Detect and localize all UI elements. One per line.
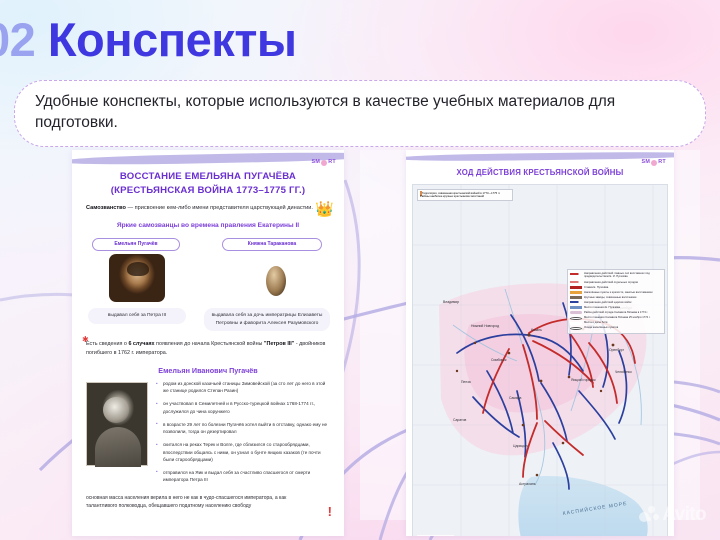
page-title: 02 Конспекты xyxy=(0,16,296,63)
smart-logo-dot xyxy=(651,160,657,166)
avito-wordmark: Avito xyxy=(662,505,706,524)
note-mid: появления до начала Крестьянской войны xyxy=(155,341,264,347)
legend-label: Направления действий главных сил восстав… xyxy=(584,272,662,279)
legend-row: Направления действий царских войск xyxy=(570,301,662,304)
legend-swatch-salavat-area xyxy=(570,311,582,314)
legend-swatch-capture-pugachev xyxy=(570,306,582,309)
svg-text:Казань: Казань xyxy=(531,328,542,332)
notes-card-pugachev[interactable]: SM RT ВОССТАНИЕ ЕМЕЛЬЯНА ПУГАЧЁВА (КРЕСТ… xyxy=(72,150,344,536)
section-heading: Яркие самозванцы во времена правления Ек… xyxy=(82,222,334,229)
left-card-title-line2: (КРЕСТЬЯНСКАЯ ВОЙНА 1773–1775 ГГ.) xyxy=(84,184,332,198)
avito-logo-icon xyxy=(639,506,659,524)
legend-arrow-red-detached xyxy=(570,281,582,283)
legend-row: Место пленения Е. Пугачёва xyxy=(570,306,662,310)
smart-logo-right: RT xyxy=(328,160,336,165)
legend-label: Районы наиболее крупных крестьянских вос… xyxy=(420,195,484,198)
avito-watermark: Avito xyxy=(639,505,706,524)
map-svg: КАСПИЙСКОЕ МОРЕ xyxy=(413,185,668,536)
map-legend-side: Направления действий главных сил восстав… xyxy=(567,269,665,334)
list-item: в возрасте 29 лет по болезни Пугачёв хот… xyxy=(156,421,332,436)
biography-bullet-list: родом из донской казачьей станицы Зимове… xyxy=(156,380,332,489)
portrait-pugachev xyxy=(109,254,165,302)
exclamation-icon: ! xyxy=(328,505,332,518)
smart-logo-dot xyxy=(321,160,327,166)
legend-label: Населённые пункты и крепости, занятые во… xyxy=(584,291,653,294)
legend-swatch-factories xyxy=(570,296,582,299)
legend-label: Места и даты битв xyxy=(584,321,607,324)
legend-label: Направления действий царских войск xyxy=(584,301,631,304)
legend-row: Места и даты битв xyxy=(570,321,662,325)
person-full-name-heading: Емельян Иванович Пугачёв xyxy=(82,366,334,375)
legend-swatch-settlements xyxy=(570,291,582,294)
legend-row: Населённые пункты и крепости, занятые во… xyxy=(570,291,662,295)
svg-text:Яицкий городок: Яицкий городок xyxy=(571,378,596,382)
definition-block: Самозванство — присвоение кем-либо имени… xyxy=(86,204,330,213)
map-scale-label: Масштаб 1:9 000 000 xyxy=(417,535,454,536)
legend-row: Район действий отряда Салавата Юлаева в … xyxy=(570,311,662,315)
note-bold-peters: "Петров III" xyxy=(264,341,294,347)
legend-row: Направления действий отдельных отрядов xyxy=(570,281,662,284)
svg-text:Челябинск: Челябинск xyxy=(615,370,632,374)
list-item: отправился на Яик и выдал себя за счастл… xyxy=(156,469,332,484)
smart-logo-icon: SM RT xyxy=(642,160,666,166)
subtitle-text: Удобные конспекты, которые используются … xyxy=(35,93,615,131)
legend-arrow-red-main xyxy=(570,273,582,275)
person-pill-tarakanova: Княжна Тараканова xyxy=(222,238,322,251)
page-title-number: 02 xyxy=(0,13,35,66)
list-item: он участвовал в Семилетней и в Русско-ту… xyxy=(156,400,332,415)
svg-text:Самара: Самара xyxy=(509,396,521,400)
legend-row: Крупные заводы, охваченные восстанием xyxy=(570,296,662,300)
svg-text:Нижний Новгород: Нижний Новгород xyxy=(471,324,499,328)
svg-text:Владимир: Владимир xyxy=(443,300,459,304)
legend-label: Крупные заводы, охваченные восстанием xyxy=(584,296,636,299)
left-card-title: ВОССТАНИЕ ЕМЕЛЬЯНА ПУГАЧЁВА (КРЕСТЬЯНСКА… xyxy=(84,170,332,199)
svg-text:Пенза: Пенза xyxy=(461,380,471,384)
legend-row: Место пленения Салавата Юлаева 25 ноября… xyxy=(570,316,662,320)
legend-label: Место пленения Салавата Юлаева 25 ноября… xyxy=(584,316,650,319)
svg-text:Астрахань: Астрахань xyxy=(519,482,536,486)
caption-tarakanova: выдавала себя за дочь императрицы Елизав… xyxy=(204,308,330,331)
smart-logo-left: SM xyxy=(312,160,321,165)
svg-text:Оренбург: Оренбург xyxy=(609,348,625,352)
legend-swatch-stavka xyxy=(570,286,582,289)
legend-label: Район действий отряда Салавата Юлаева в … xyxy=(584,311,648,314)
legend-row: Районы наиболее крупных крестьянских вос… xyxy=(420,195,510,198)
svg-text:Царицын: Царицын xyxy=(513,444,528,448)
definition-text: — присвоение кем-либо имени представител… xyxy=(126,205,313,211)
notes-card-map[interactable]: SM RT ХОД ДЕЙСТВИЯ КРЕСТЬЯНСКОЙ ВОЙНЫ xyxy=(406,150,674,536)
legend-label: Осада населённых пунктов xyxy=(584,326,618,329)
historical-map-image[interactable]: КАСПИЙСКОЕ МОРЕ xyxy=(412,184,668,536)
legend-label: Место пленения Е. Пугачёва xyxy=(584,306,620,309)
right-card-title: ХОД ДЕЙСТВИЯ КРЕСТЬЯНСКОЙ ВОЙНЫ xyxy=(416,168,664,177)
legend-label: Направления действий отдельных отрядов xyxy=(584,281,638,284)
note-prefix: Есть сведения о xyxy=(86,341,128,347)
legend-swatch-battles xyxy=(570,322,582,325)
subtitle-bubble: Удобные конспекты, которые используются … xyxy=(14,80,706,147)
caption-pugachev: выдавал себя за Петра III xyxy=(88,308,186,324)
page-title-word: Конспекты xyxy=(48,13,297,66)
list-item: родом из донской казачьей станицы Зимове… xyxy=(156,380,332,395)
smart-logo-left: SM xyxy=(642,160,651,165)
slide-canvas: 02 Конспекты Удобные конспекты, которые … xyxy=(0,0,720,540)
legend-swatch-sieges xyxy=(570,327,582,330)
legend-row: Осада населённых пунктов xyxy=(570,326,662,330)
legend-swatch-salavat-capture xyxy=(570,317,582,320)
portrait-tarakanova xyxy=(250,254,302,302)
definition-term: Самозванство xyxy=(86,205,126,211)
legend-arrow-blue-tsarist xyxy=(570,301,582,303)
card-ribbon xyxy=(406,151,674,162)
left-card-title-line1: ВОССТАНИЕ ЕМЕЛЬЯНА ПУГАЧЁВА xyxy=(84,170,332,184)
person-pill-pugachev: Емельян Пугачёв xyxy=(92,238,180,251)
legend-row: Ставка Е. Пугачёва xyxy=(570,286,662,290)
note-bold-cases: 6 случаях xyxy=(128,341,154,347)
svg-text:Симбирск: Симбирск xyxy=(491,358,507,362)
smart-logo-right: RT xyxy=(658,160,666,165)
legend-label: Ставка Е. Пугачёва xyxy=(584,286,608,289)
left-card-footer-text: основная масса населения верила в него н… xyxy=(86,494,318,510)
svg-text:Саратов: Саратов xyxy=(453,418,466,422)
map-legend-top: Территория, охваченная крестьянской войн… xyxy=(417,189,513,201)
crown-icon: 👑 xyxy=(315,202,334,217)
legend-row: Направления действий главных сил восстав… xyxy=(570,272,662,279)
smart-logo-icon: SM RT xyxy=(312,160,336,166)
portrait-pugachev-engraving xyxy=(86,382,148,466)
list-item: скитался на реках Терек и Волге, где сбл… xyxy=(156,441,332,463)
note-block: Есть сведения о 6 случаях появления до н… xyxy=(86,340,332,357)
card-ribbon xyxy=(72,151,344,166)
